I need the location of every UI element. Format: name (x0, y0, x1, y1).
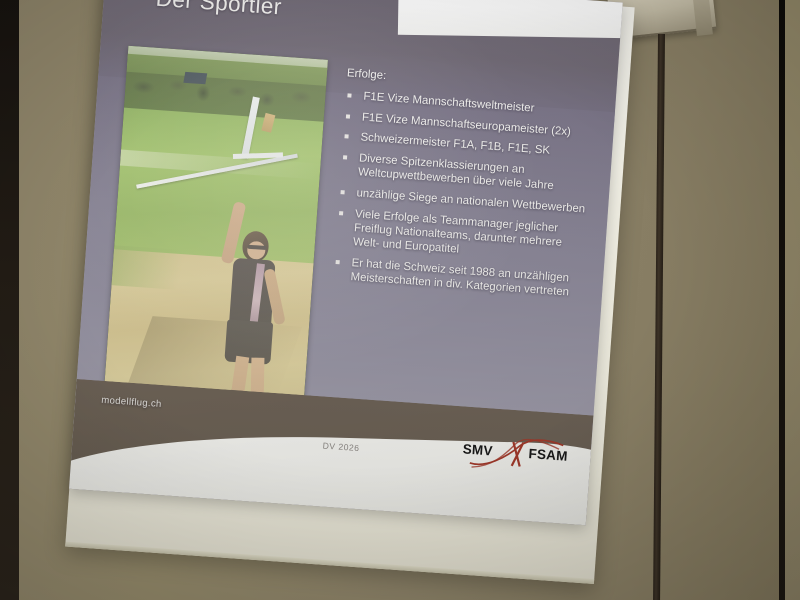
projected-slide: Der Sportler (69, 0, 623, 525)
photo-stubble-grass-patch (111, 245, 192, 290)
projection-screen-roller-cap (693, 0, 713, 36)
wall-right-panel (785, 0, 800, 600)
wall-left-dark-edge (0, 0, 19, 600)
slide-header-white-band (398, 0, 623, 40)
footer-logo-fsam-text: FSAM (528, 446, 568, 464)
footer-logo-smv-text: SMV (462, 441, 493, 458)
photo-house-roof (183, 72, 207, 84)
smv-fsam-logo: SMV FSAM (461, 432, 573, 478)
slide-text-column: Erfolge: F1E Vize Mannschaftsweltmeister… (332, 67, 597, 307)
photo-of-projected-slide: Der Sportler (0, 0, 800, 600)
slide-bullet-list-teammanager: Viele Erfolge als Teammanager jeglicher … (332, 206, 587, 301)
slide-bullet-list-achievements: F1E Vize Mannschaftsweltmeister F1E Vize… (338, 88, 595, 217)
slide-photo (103, 46, 328, 419)
